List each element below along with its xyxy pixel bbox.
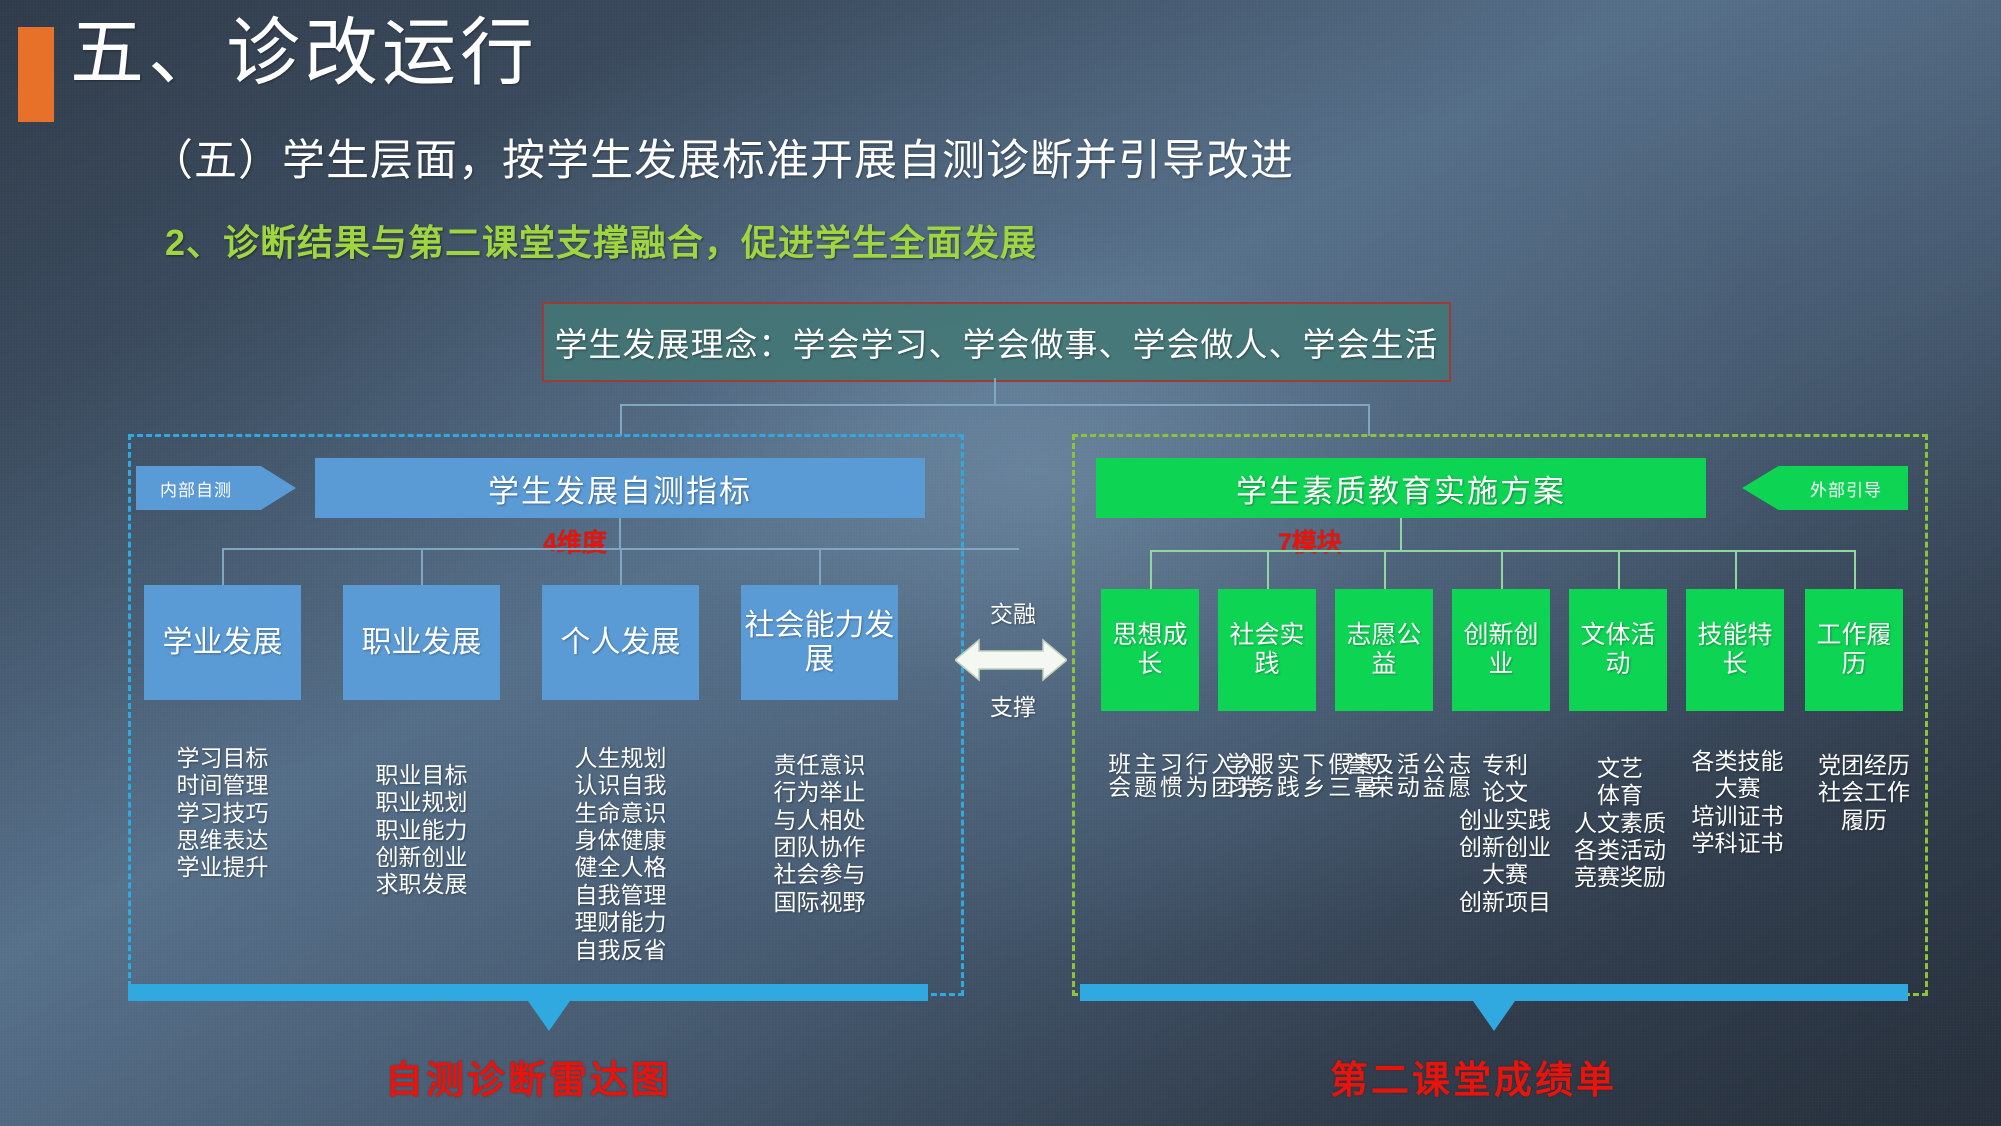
right-module-count: 7模块 — [1278, 523, 1342, 559]
left-dimension-count: 4维度 — [543, 523, 607, 559]
connector-concept-stem — [994, 378, 996, 404]
dimension-box-career[interactable]: 职业发展 — [343, 585, 500, 700]
center-label-support: 支撑 — [990, 688, 1036, 722]
module-box-social-practice[interactable]: 社会实践 — [1218, 589, 1316, 711]
right-output-callout: 第二课堂成绩单 — [1330, 1049, 1617, 1104]
title-accent-bar — [18, 27, 54, 122]
dimension-items-career: 职业目标 职业规划 职业能力 创新创业 求职发展 — [343, 762, 500, 899]
dimension-box-academic[interactable]: 学业发展 — [144, 585, 301, 700]
left-panel-header: 学生发展自测指标 — [315, 458, 925, 518]
right-tree-drop-4 — [1501, 550, 1503, 589]
page-subtitle: （五）学生层面，按学生发展标准开展自测诊断并引导改进 — [150, 140, 1294, 183]
right-tree-drop-2 — [1267, 550, 1269, 589]
center-label-fusion: 交融 — [990, 595, 1036, 629]
right-tree-drop-1 — [1150, 550, 1152, 589]
right-tree-drop-7 — [1854, 550, 1856, 589]
left-tree-stem — [619, 518, 621, 548]
left-output-arrow-icon — [528, 1001, 570, 1031]
dimension-items-personal: 人生规划 认识自我 生命意识 身体健康 健全人格 自我管理 理财能力 自我反省 — [542, 745, 699, 964]
dimension-items-academic: 学习目标 时间管理 学习技巧 思维表达 学业提升 — [144, 745, 301, 882]
left-output-bar — [128, 984, 928, 1001]
right-panel-header: 学生素质教育实施方案 — [1096, 458, 1706, 518]
module-box-work-history[interactable]: 工作履历 — [1805, 589, 1903, 711]
left-tree-drop-2 — [421, 548, 423, 585]
left-tree-drop-1 — [222, 548, 224, 585]
connector-concept-left — [620, 404, 622, 436]
module-box-volunteer[interactable]: 志愿公益 — [1335, 589, 1433, 711]
left-tree-drop-3 — [620, 548, 622, 585]
right-tree-rail — [1150, 550, 1856, 552]
dimension-box-personal[interactable]: 个人发展 — [542, 585, 699, 700]
dimension-box-social[interactable]: 社会能力发展 — [741, 585, 898, 700]
right-tree-drop-3 — [1384, 550, 1386, 589]
bidirectional-arrow-icon — [955, 638, 1067, 682]
left-tree-drop-4 — [819, 548, 821, 585]
module-box-arts-sports[interactable]: 文体活动 — [1569, 589, 1667, 711]
page-title: 五、诊改运行 — [70, 16, 538, 90]
right-tree-drop-6 — [1735, 550, 1737, 589]
right-tree-drop-5 — [1618, 550, 1620, 589]
right-tree-stem — [1400, 518, 1402, 550]
connector-concept-right — [1368, 404, 1370, 436]
dimension-items-social: 责任意识 行为举止 与人相处 团队协作 社会参与 国际视野 — [741, 752, 898, 916]
left-output-callout: 自测诊断雷达图 — [385, 1049, 672, 1104]
right-output-bar — [1080, 984, 1908, 1001]
module-items-work-history: 党团经历 社会工作 履历 — [1795, 752, 1933, 834]
module-box-skills[interactable]: 技能特长 — [1686, 589, 1784, 711]
student-development-concept-box: 学生发展理念：学会学习、学会做事、学会做人、学会生活 — [542, 302, 1451, 382]
module-box-ideological[interactable]: 思想成长 — [1101, 589, 1199, 711]
module-box-innovation[interactable]: 创新创业 — [1452, 589, 1550, 711]
connector-concept-rail — [620, 404, 1370, 406]
module-items-skills: 各类技能 大赛 培训证书 学科证书 — [1665, 748, 1810, 857]
section-highlight-text: 2、诊断结果与第二课堂支撑融合，促进学生全面发展 — [165, 225, 1037, 261]
right-output-arrow-icon — [1473, 1001, 1515, 1031]
